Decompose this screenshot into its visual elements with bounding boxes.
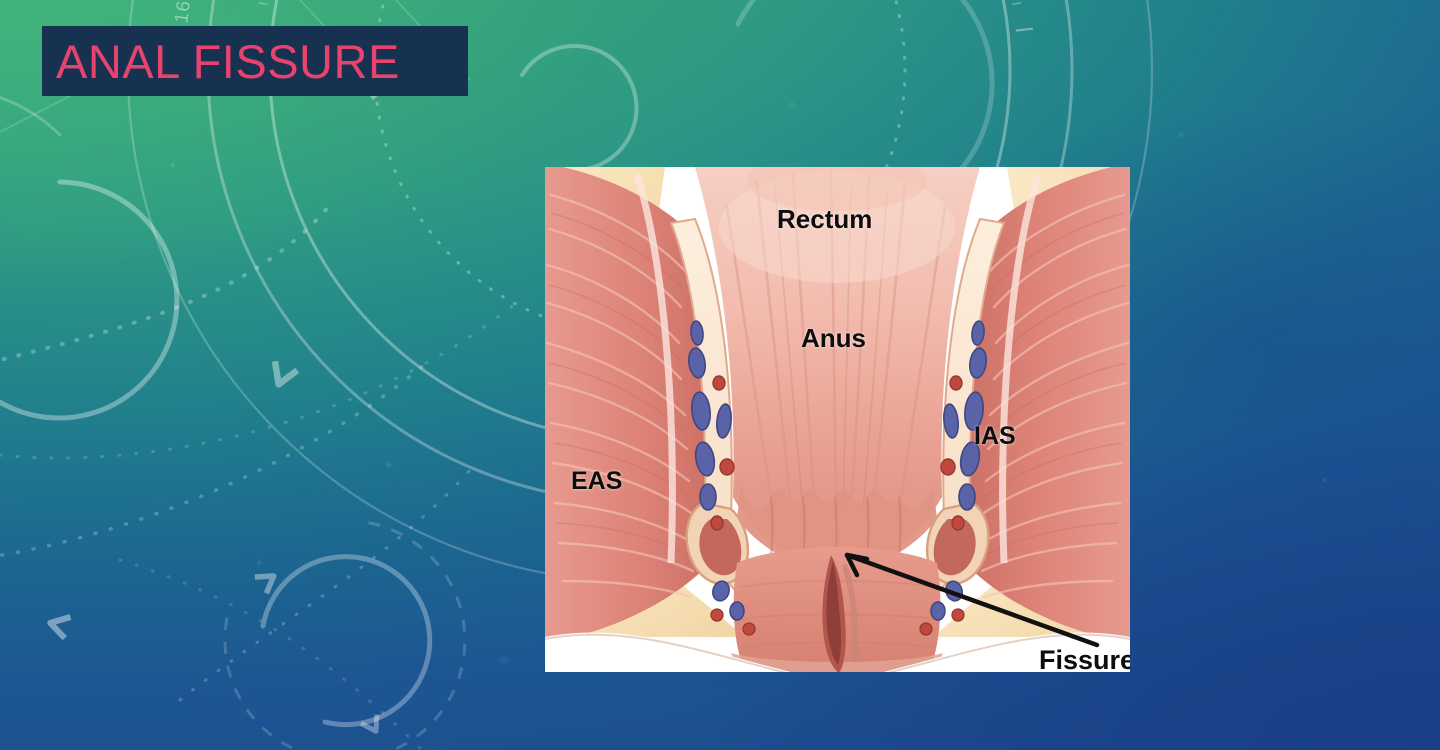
label-rectum: Rectum (777, 204, 872, 235)
label-fissure: Fissure (1039, 645, 1130, 672)
presentation-slide: 160 170 180 190 200 210 220 230 240 250 … (0, 0, 1440, 750)
label-eas: EAS (571, 467, 622, 496)
label-ias: IAS (974, 422, 1016, 451)
page-title: ANAL FISSURE (42, 38, 400, 85)
svg-text:160: 160 (171, 0, 197, 25)
anal-canal-illustration: Rectum Anus IAS EAS Fissure (545, 167, 1130, 672)
label-anus: Anus (801, 323, 866, 354)
slide-title-box: ANAL FISSURE (42, 26, 468, 96)
